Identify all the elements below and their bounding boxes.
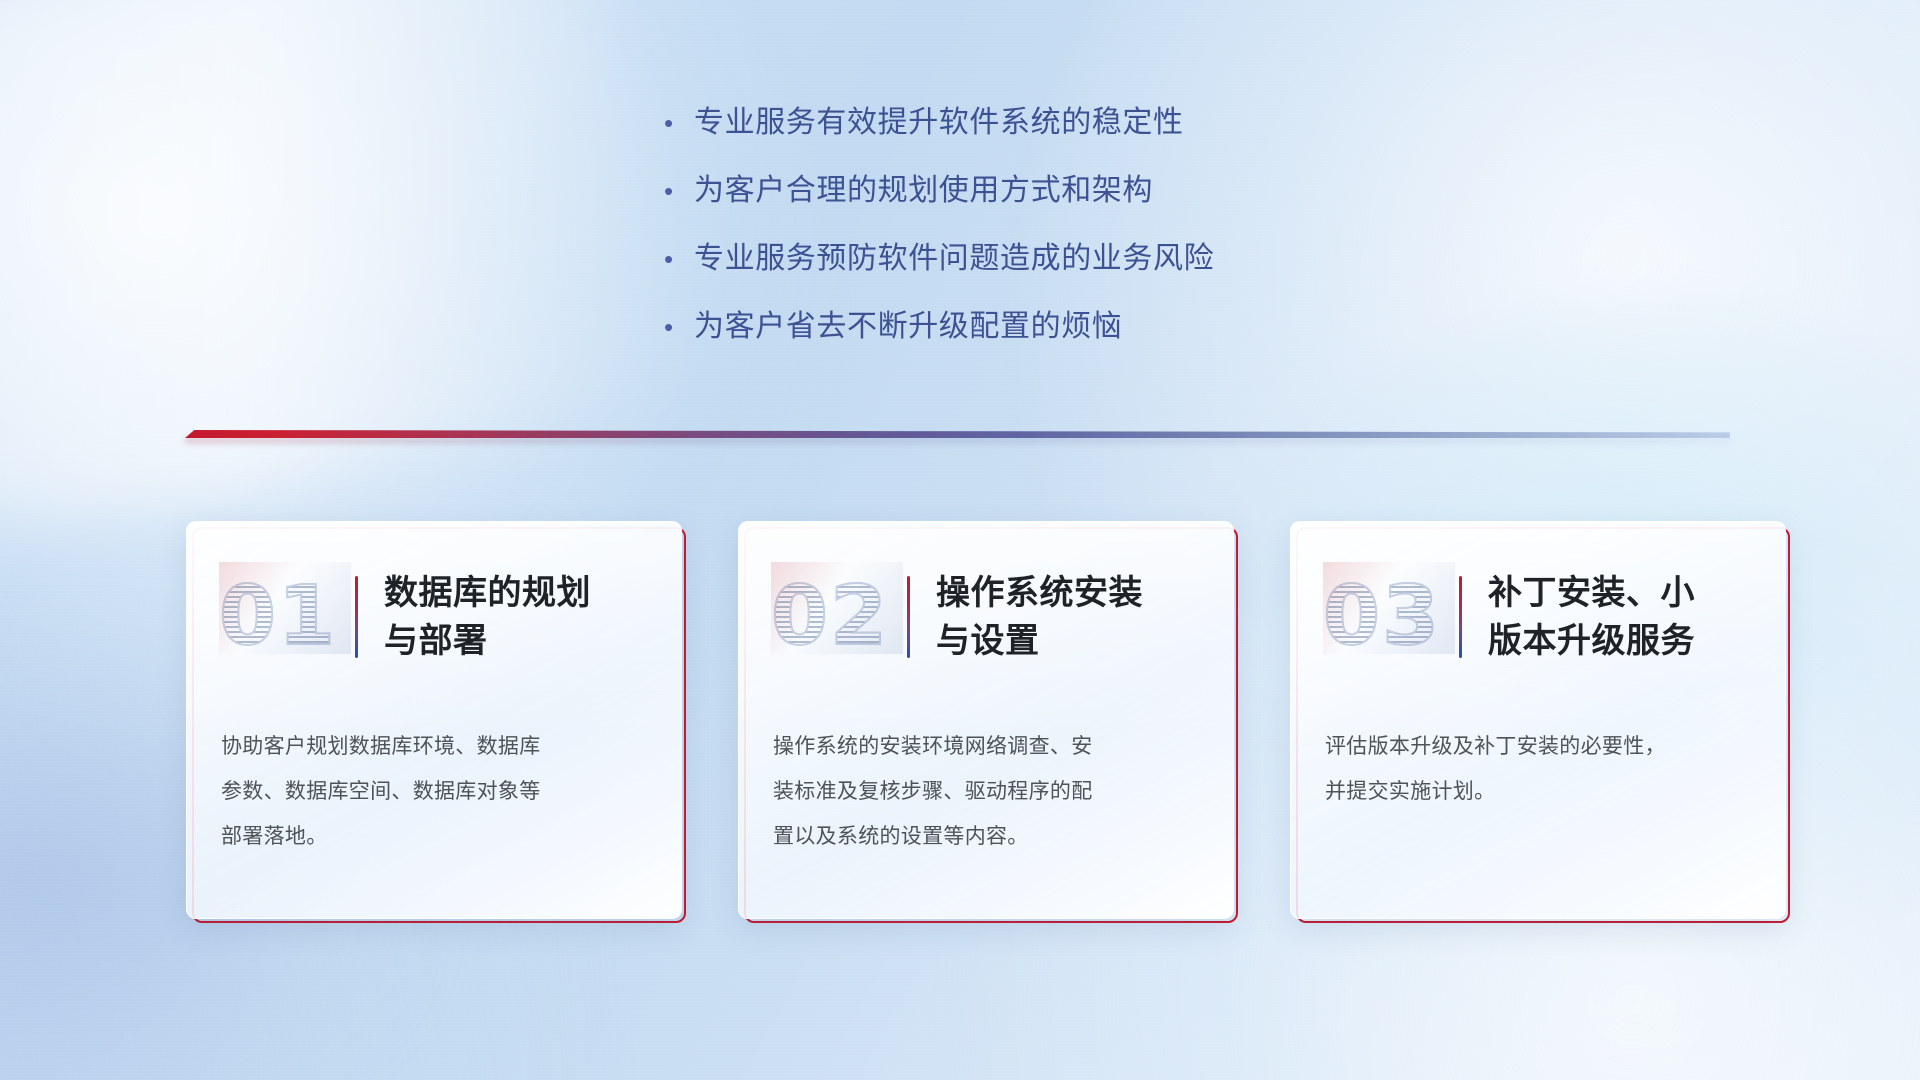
card-header: 02 操作系统安装 与设置 <box>739 522 1233 672</box>
bullet-dot-icon: • <box>660 308 694 346</box>
divider-gradient-bar <box>185 430 1730 438</box>
card-surface: 02 操作系统安装 与设置 操作系统的安装环境网络调查、安 装标准及复核步骤、驱… <box>738 521 1234 919</box>
card-title: 操作系统安装 与设置 <box>936 569 1157 665</box>
card-number: 01 <box>219 571 351 663</box>
card-description: 操作系统的安装环境网络调查、安 装标准及复核步骤、驱动程序的配 置以及系统的设置… <box>739 672 1233 859</box>
bullet-item: • 专业服务有效提升软件系统的稳定性 <box>660 104 1480 142</box>
card-01[interactable]: 01 数据库的规划 与部署 协助客户规划数据库环境、数据库 参数、数据库空间、数… <box>186 521 682 919</box>
card-number: 03 <box>1323 571 1455 663</box>
bullet-text: 为客户合理的规划使用方式和架构 <box>694 172 1153 210</box>
bullet-text: 专业服务有效提升软件系统的稳定性 <box>694 104 1184 142</box>
divider-shadow <box>185 437 1730 444</box>
card-03[interactable]: 03 补丁安装、小 版本升级服务 评估版本升级及补丁安装的必要性， 并提交实施计… <box>1290 521 1786 919</box>
card-accent-bar <box>1459 576 1462 658</box>
bullet-text: 为客户省去不断升级配置的烦恼 <box>694 308 1122 346</box>
bullet-dot-icon: • <box>660 104 694 142</box>
bullet-list: • 专业服务有效提升软件系统的稳定性 • 为客户合理的规划使用方式和架构 • 专… <box>660 104 1480 376</box>
bullet-item: • 为客户省去不断升级配置的烦恼 <box>660 308 1480 346</box>
divider <box>185 424 1730 446</box>
card-accent-bar <box>907 576 910 658</box>
card-header: 01 数据库的规划 与部署 <box>187 522 681 672</box>
card-header: 03 补丁安装、小 版本升级服务 <box>1291 522 1785 672</box>
card-surface: 03 补丁安装、小 版本升级服务 评估版本升级及补丁安装的必要性， 并提交实施计… <box>1290 521 1786 919</box>
card-surface: 01 数据库的规划 与部署 协助客户规划数据库环境、数据库 参数、数据库空间、数… <box>186 521 682 919</box>
card-description: 协助客户规划数据库环境、数据库 参数、数据库空间、数据库对象等 部署落地。 <box>187 672 681 859</box>
card-title: 补丁安装、小 版本升级服务 <box>1488 569 1709 665</box>
bullet-dot-icon: • <box>660 172 694 210</box>
bullet-text: 专业服务预防软件问题造成的业务风险 <box>694 240 1214 278</box>
bullet-item: • 专业服务预防软件问题造成的业务风险 <box>660 240 1480 278</box>
bullet-item: • 为客户合理的规划使用方式和架构 <box>660 172 1480 210</box>
card-accent-bar <box>355 576 358 658</box>
bullet-dot-icon: • <box>660 240 694 278</box>
card-02[interactable]: 02 操作系统安装 与设置 操作系统的安装环境网络调查、安 装标准及复核步骤、驱… <box>738 521 1234 919</box>
card-title: 数据库的规划 与部署 <box>384 569 605 665</box>
card-description: 评估版本升级及补丁安装的必要性， 并提交实施计划。 <box>1291 672 1785 814</box>
card-number: 02 <box>771 571 903 663</box>
card-row: 01 数据库的规划 与部署 协助客户规划数据库环境、数据库 参数、数据库空间、数… <box>186 521 1786 921</box>
